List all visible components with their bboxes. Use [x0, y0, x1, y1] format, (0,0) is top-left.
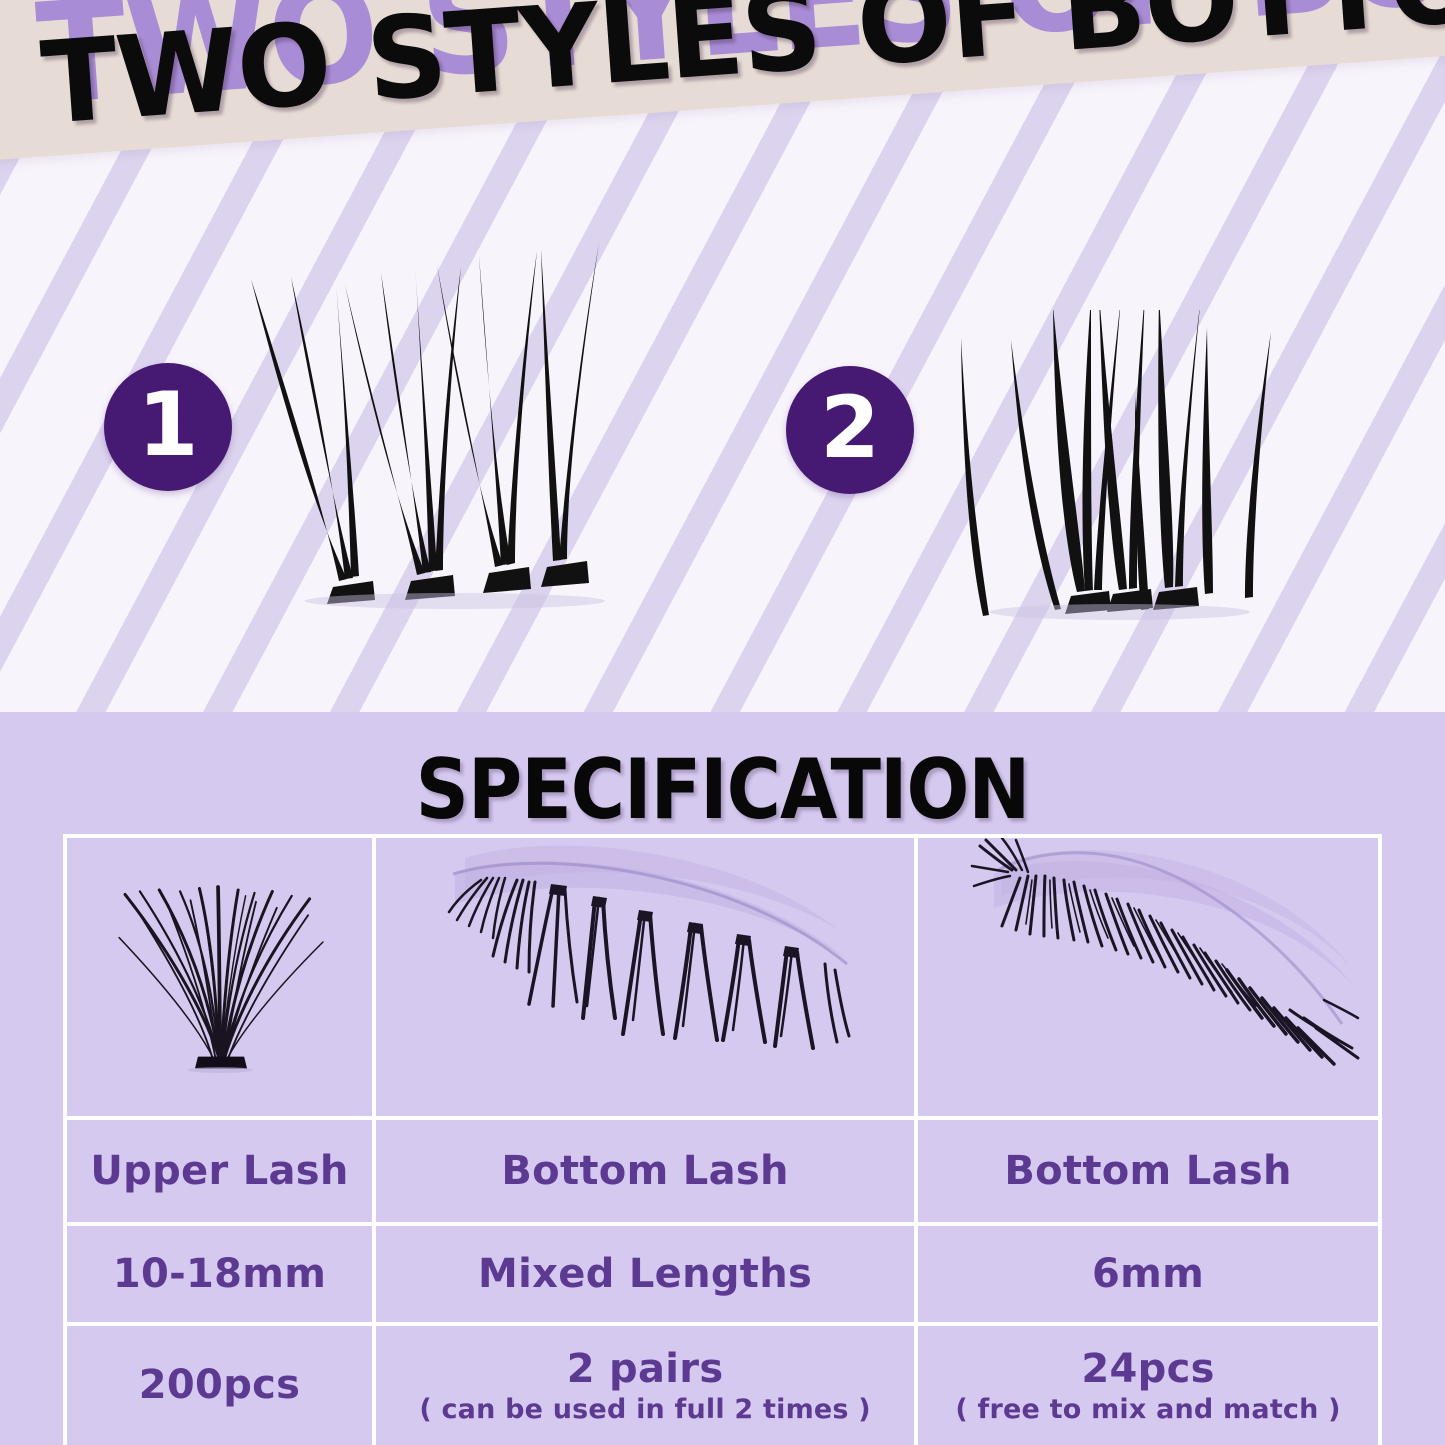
spec-image-cell-bottom-lash-6mm — [918, 838, 1378, 1120]
spec-quantity-bottom-lash-mixed: 2 pairs — [380, 1347, 910, 1392]
lash-cluster-style-1-illustration — [205, 215, 605, 615]
spec-quantity-upper-lash: 200pcs — [71, 1363, 368, 1408]
specification-title: SPECIFICATION — [0, 742, 1445, 838]
spec-quantity-cell-bottom-lash-mixed: 2 pairs ( can be used in full 2 times ) — [376, 1326, 918, 1445]
specification-table-wrapper: Upper Lash Bottom Lash Bottom Lash 10-18… — [63, 834, 1382, 1124]
spec-label-bottom-lash-mixed: Bottom Lash — [376, 1120, 918, 1226]
spec-quantity-cell-upper-lash: 200pcs — [67, 1326, 376, 1445]
style-number-1-label: 1 — [137, 381, 198, 469]
lash-cluster-style-2-illustration — [905, 310, 1305, 640]
table-row-labels: Upper Lash Bottom Lash Bottom Lash — [67, 1120, 1378, 1226]
upper-lash-fan-cluster-icon — [67, 838, 372, 1116]
hero-section: TWO STYLES OF BOTTOM LASH TWO STYLES OF … — [0, 0, 1445, 712]
style-number-2-label: 2 — [820, 385, 880, 471]
spec-quantity-bottom-lash-6mm: 24pcs — [922, 1347, 1374, 1392]
spec-image-cell-upper-lash — [67, 838, 376, 1120]
spec-label-upper-lash: Upper Lash — [67, 1120, 376, 1226]
table-row-images — [67, 838, 1378, 1120]
spec-quantity-note-bottom-lash-mixed: ( can be used in full 2 times ) — [380, 1394, 910, 1425]
bottom-lash-spiky-strip-icon — [376, 838, 914, 1116]
spec-quantity-cell-bottom-lash-6mm: 24pcs ( free to mix and match ) — [918, 1326, 1378, 1445]
specification-section: SPECIFICATION — [0, 712, 1445, 1445]
table-row-lengths: 10-18mm Mixed Lengths 6mm — [67, 1226, 1378, 1326]
product-infographic: TWO STYLES OF BOTTOM LASH TWO STYLES OF … — [0, 0, 1445, 1445]
bottom-lash-dense-strip-icon — [918, 838, 1378, 1116]
style-number-badge-1: 1 — [104, 363, 232, 491]
spec-image-cell-bottom-lash-mixed — [376, 838, 918, 1120]
spec-length-bottom-lash-mixed: Mixed Lengths — [376, 1226, 918, 1326]
style-number-badge-2: 2 — [786, 366, 914, 494]
spec-label-bottom-lash-6mm: Bottom Lash — [918, 1120, 1378, 1226]
table-row-quantities: 200pcs 2 pairs ( can be used in full 2 t… — [67, 1326, 1378, 1445]
spec-length-upper-lash: 10-18mm — [67, 1226, 376, 1326]
spec-length-bottom-lash-6mm: 6mm — [918, 1226, 1378, 1326]
spec-quantity-note-bottom-lash-6mm: ( free to mix and match ) — [922, 1394, 1374, 1425]
specification-table: Upper Lash Bottom Lash Bottom Lash 10-18… — [63, 834, 1382, 1445]
